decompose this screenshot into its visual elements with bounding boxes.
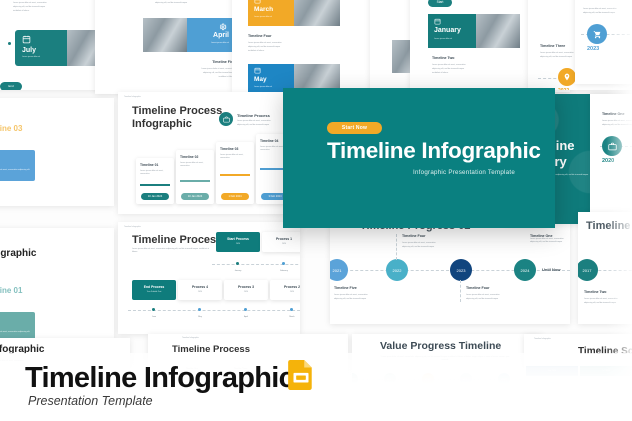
year-2023: 2023 — [587, 46, 599, 52]
lorem-text: incididunt ut labore. — [432, 72, 498, 75]
start-now-button[interactable]: Start Now — [327, 122, 382, 134]
month-card-march[interactable]: March Lorem ipsum dolor sit — [248, 0, 340, 26]
lorem-text: Lorem ipsum dolor sit amet, consectetur — [155, 0, 213, 1]
step-button[interactable]: 10 Jan 2024 — [181, 193, 209, 200]
month-label: April — [213, 32, 229, 39]
tag-timeline-01: Timeline 01 — [0, 286, 22, 295]
box-sub: 2024 — [216, 243, 260, 245]
gear-icon — [219, 23, 227, 31]
month-sub: Lorem ipsum dolor sit — [254, 86, 272, 88]
lorem-text: adipiscing elit, sed do eiusmod tempor — [466, 298, 518, 301]
accent-bar — [220, 174, 250, 176]
calendar-icon — [22, 35, 31, 44]
calendar-icon — [434, 18, 441, 25]
step-card[interactable]: Timeline 02 Lorem ipsum dolor sit amet, … — [176, 150, 214, 204]
year-node[interactable]: 2022 — [386, 259, 408, 281]
slide-left-year-03[interactable]: Timeline 03 2022 11. April Third Agenda … — [0, 98, 114, 206]
process-box-start[interactable]: Start Process 2024 — [216, 232, 260, 252]
slide-top-march-may[interactable]: March Lorem ipsum dolor sit Timeline Fou… — [232, 0, 380, 92]
lorem-text: incididunt ut labore. — [165, 76, 235, 79]
node-caption: Timeline Four — [466, 286, 490, 290]
month-sub: Lorem ipsum dolor sit — [254, 16, 272, 18]
step-card[interactable]: Timeline 03 Lorem ipsum dolor sit amet, … — [216, 142, 254, 204]
lorem-text: adipiscing elit, sed do eiusmod tempor — [165, 72, 235, 75]
calendar-icon — [254, 67, 261, 74]
process-box[interactable]: Process 2 2024 — [270, 280, 300, 300]
caption-block-timeline-one: Timeline One Lorem ipsum dolor sit amet,… — [530, 234, 582, 244]
step-button[interactable]: 10 Jan 2024 — [141, 193, 169, 200]
slide-process-infographic[interactable]: Timeline Infographic Timeline Process In… — [118, 92, 298, 214]
lorem-text: Lorem ipsum dolor sit amet, consectetur — [13, 2, 78, 5]
box-sub: Your Subtitle Text — [132, 291, 176, 293]
process-box[interactable]: Process 1 2024 — [262, 232, 300, 252]
slide-progress-02[interactable]: Timeline Progress 02 2021 2022 2023 2024… — [330, 212, 570, 324]
lorem-text: adipiscing elit, sed do eiusmod tempor — [155, 2, 213, 5]
month-label: January — [434, 27, 461, 34]
eyebrow: Timeline Infographic — [124, 96, 141, 98]
eyebrow: Timeline Infographic — [124, 226, 141, 228]
month-label: February — [270, 270, 298, 272]
start-badge[interactable]: Start — [428, 0, 452, 7]
caption-timeline-two: Timeline Two — [584, 290, 606, 294]
box-label: Process 4 — [178, 285, 222, 289]
month-card-january[interactable]: January Lorem ipsum dolor sit — [428, 14, 520, 48]
box-label: Process 1 — [262, 237, 300, 241]
lorem-text: Lorem ipsum dolor sit amet, consectetur — [248, 42, 308, 45]
process-box[interactable]: Process 4 2024 — [178, 280, 222, 300]
lorem-text: adipiscing elit, sed do eiusmod tempor — [402, 246, 454, 249]
step-label: Timeline 03 — [220, 147, 238, 151]
year-node[interactable]: 2023 — [450, 259, 472, 281]
banner-title: Timeline Infographic — [25, 362, 294, 395]
pin-badge[interactable] — [558, 68, 576, 86]
year-card-2022[interactable]: 2022 11. April Third Agenda Lorem ipsum … — [0, 150, 35, 181]
step-label: Timeline 01 — [140, 163, 158, 167]
lorem-text: Lorem ipsum dolor sit amet, consectetur — [334, 294, 382, 297]
year-node[interactable]: 2021 — [330, 259, 348, 281]
node-caption: Timeline Five — [334, 286, 357, 290]
lorem-text: adipiscing elit, sed do eiusmod tempor — [432, 68, 498, 71]
slide-left-year-01[interactable]: Infographic Timeline 01 2024 13. Februar… — [0, 228, 114, 338]
tag-timeline-03: Timeline 03 — [0, 124, 22, 133]
box-sub: 2024 — [224, 291, 268, 293]
year-label: 2024 — [521, 268, 530, 273]
banner-subtitle: Presentation Template — [28, 394, 153, 408]
step-label: Timeline 04 — [260, 139, 278, 143]
month-label: May — [186, 316, 214, 318]
lorem-text: Lorem ipsum dolor sit amet, consectetur — [165, 68, 235, 71]
pin-icon — [563, 73, 571, 81]
year-2022: 2022 — [558, 88, 569, 90]
eyebrow: Timeline Infographic — [182, 337, 199, 339]
month-label: July — [22, 47, 36, 54]
box-label: Process 2 — [270, 285, 300, 289]
month-sub: Lorem ipsum dolor sit — [434, 38, 452, 40]
end-badge[interactable]: End — [0, 82, 22, 90]
month-sub: Lorem ipsum dolor sit — [211, 42, 229, 44]
briefcase-icon — [223, 116, 230, 123]
box-sub: 2024 — [178, 291, 222, 293]
lorem-text: Lorem ipsum dolor sit amet, consectetur … — [132, 248, 210, 254]
month-label: June — [140, 316, 168, 318]
timeline-node — [244, 308, 247, 311]
slide-title: Value Progress Timeline — [380, 340, 501, 352]
until-now-label: Until Now — [542, 267, 560, 272]
caption-timeline-three: Timeline Three — [540, 44, 565, 48]
step-card[interactable]: Timeline 01 Lorem ipsum dolor sit amet, … — [136, 158, 174, 204]
briefcase-badge[interactable] — [219, 112, 233, 126]
slide-title: Timeline Process — [132, 234, 222, 246]
eyebrow: Timeline Infographic — [534, 338, 551, 340]
timeline-node — [290, 308, 293, 311]
lorem-text: adipiscing elit, sed do eiusmod tempor — [248, 46, 308, 49]
template-preview-mosaic: Lorem ipsum dolor sit amet, consectetur … — [0, 0, 632, 421]
box-label: Process 3 — [224, 285, 268, 289]
side-label: Timeline Process — [237, 113, 270, 118]
month-label: May — [254, 76, 267, 83]
year-node[interactable]: 2024 — [514, 259, 536, 281]
slide-timeline-process[interactable]: Timeline Infographic Timeline Process Lo… — [118, 222, 300, 334]
bullet-text: Lorem ipsum dolor sit amet, consectetur … — [0, 331, 32, 334]
caption-timeline-two: Timeline Two — [432, 56, 454, 60]
hero-subtitle: Infographic Presentation Template — [413, 169, 515, 176]
lorem-text: Lorem ipsum dolor sit amet, consectetur — [220, 154, 250, 160]
year-label: 2023 — [457, 268, 466, 273]
lorem-text: Lorem ipsum dolor sit amet, consectetur — [180, 162, 210, 168]
slide-title-line1: Timeline Process — [132, 105, 222, 117]
accent-bar — [140, 184, 170, 186]
google-slides-icon — [288, 360, 314, 390]
timeline-dot — [8, 42, 11, 45]
timeline-node — [236, 262, 239, 265]
heading-infographic: Infographic — [0, 248, 36, 259]
timeline-node — [152, 308, 155, 311]
box-label: End Process — [132, 285, 176, 289]
process-box[interactable]: Process 3 2024 — [224, 280, 268, 300]
timeline-node — [282, 262, 285, 265]
accent-bar — [180, 180, 210, 182]
bullet-text: Lorem ipsum dolor sit amet, consectetur … — [0, 169, 32, 172]
lorem-text: Lorem ipsum dolor sit amet, consectetur — [140, 170, 170, 176]
year-label: 2017 — [583, 268, 592, 273]
slide-top-april[interactable]: Lorem ipsum dolor sit amet, consectetur … — [95, 0, 245, 94]
lorem-text: Lorem ipsum dolor sit amet, consectetur — [432, 64, 498, 67]
step-label: Timeline 02 — [180, 155, 198, 159]
lorem-text: incididunt ut labore. — [13, 10, 78, 13]
hero-title: Timeline Infographic — [327, 138, 541, 164]
calendar-icon — [254, 0, 261, 4]
month-label: January — [224, 270, 252, 272]
year-label: 2022 — [393, 268, 402, 273]
step-button[interactable]: 1 Feb 2024 — [221, 193, 249, 200]
lorem-text: Lorem ipsum dolor sit amet, consectetur — [466, 294, 518, 297]
month-sub: Lorem ipsum dolor sit — [22, 56, 40, 58]
box-sub: 2024 — [270, 291, 300, 293]
lorem-text: Lorem ipsum dolor sit amet, consectetur — [402, 242, 454, 245]
caption-timeline-four: Timeline Four — [248, 34, 272, 38]
month-label: March — [278, 316, 300, 318]
hero-panel: Start Now Timeline Infographic Infograph… — [283, 88, 555, 228]
box-label: Start Process — [216, 237, 260, 241]
lorem-text: adipiscing elit, sed do eiusmod tempor — [530, 241, 582, 244]
lorem-text: adipiscing elit, sed do eiusmod tempor — [13, 6, 78, 9]
year-node[interactable]: 2017 — [578, 259, 598, 281]
month-label: April — [232, 316, 260, 318]
timeline-node — [198, 308, 201, 311]
box-sub: 2024 — [262, 243, 300, 245]
process-box-end[interactable]: End Process Your Subtitle Text — [132, 280, 176, 300]
slide-title-line2: Infographic — [132, 118, 192, 130]
node-caption: Timeline Four — [402, 234, 426, 238]
lorem-text: incididunt ut labore. — [248, 50, 308, 53]
cart-icon — [593, 30, 602, 39]
year-label: 2021 — [333, 268, 342, 273]
month-card-april[interactable]: April Lorem ipsum dolor sit — [143, 18, 235, 52]
month-label: March — [254, 6, 273, 13]
cart-badge[interactable] — [587, 24, 607, 44]
year-card-2024[interactable]: 2024 13. February Second Agenda Lorem ip… — [0, 312, 35, 338]
lorem-text: adipiscing elit, sed do eiusmod tempor — [334, 298, 382, 301]
